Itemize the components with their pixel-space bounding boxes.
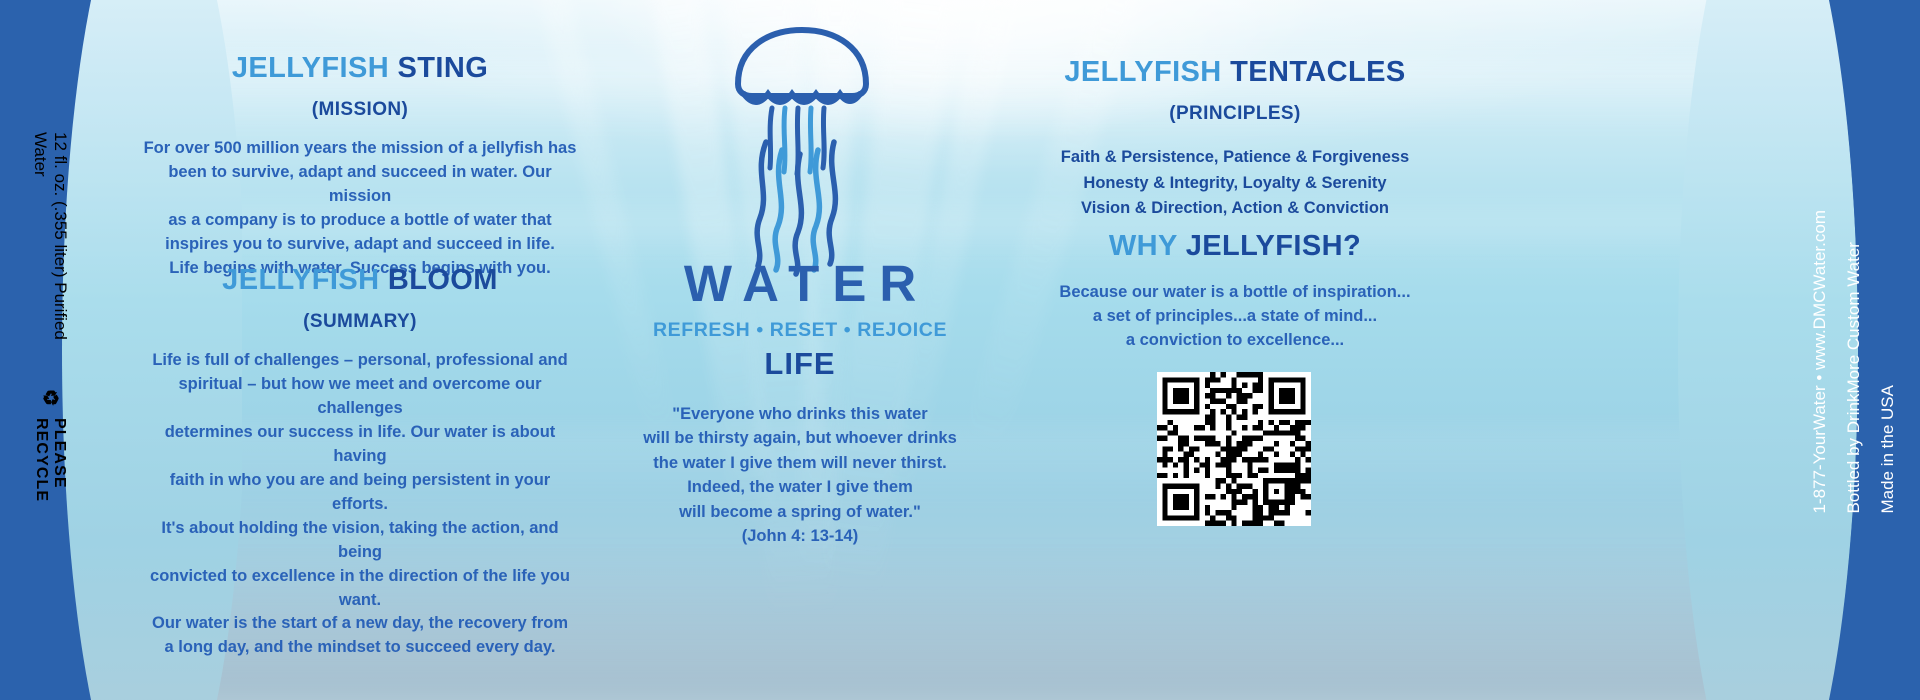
mission-section: JELLYFISH STING (MISSION) For over 500 m… [140, 52, 580, 281]
scripture-reference: (John 4: 13-14) [620, 524, 980, 548]
why-jellyfish-section: WHY JELLYFISH? Because our water is a bo… [1040, 230, 1430, 353]
recycle-label: PLEASE RECYCLE [32, 418, 68, 572]
principles-section: JELLYFISH TENTACLES (PRINCIPLES) Faith &… [1040, 56, 1430, 222]
recycle-info: 12 fl. oz. (.355 liter) Purified Water ♻… [30, 132, 70, 572]
scripture-verse: "Everyone who drinks this water will be … [620, 402, 980, 548]
summary-subtitle: (SUMMARY) [140, 311, 580, 333]
summary-section: JELLYFISH BLOOM (SUMMARY) Life is full o… [140, 264, 580, 660]
why-jellyfish-body: Because our water is a bottle of inspira… [1040, 281, 1430, 353]
summary-heading: JELLYFISH BLOOM [140, 264, 580, 297]
bottle-label: 12 fl. oz. (.355 liter) Purified Water ♻… [0, 0, 1920, 700]
principle-item: Vision & Direction, Action & Conviction [1040, 196, 1430, 222]
brand-name: WATER [620, 258, 980, 309]
principle-item: Honesty & Integrity, Loyalty & Serenity [1040, 171, 1430, 197]
principle-item: Faith & Persistence, Patience & Forgiven… [1040, 145, 1430, 171]
tentacles-heading: JELLYFISH TENTACLES [1040, 56, 1430, 89]
why-jellyfish-heading: WHY JELLYFISH? [1040, 230, 1430, 263]
bottler-text: Bottled by DrinkMore Custom Water [1844, 210, 1864, 514]
summary-body: Life is full of challenges – personal, p… [140, 349, 580, 660]
brand-tagline: REFRESH • RESET • REJOICE [620, 319, 980, 342]
contact-text: 1-877-YourWater • www.DMCWater.com [1810, 210, 1830, 514]
recycle-icon: ♻ [40, 386, 60, 410]
qr-code-image [1157, 372, 1311, 526]
manufacturer-info: Made in the USA Bottled by DrinkMore Cus… [1810, 210, 1898, 514]
mission-subtitle: (MISSION) [140, 99, 580, 121]
made-in-usa-text: Made in the USA [1878, 210, 1898, 514]
principles-list: Faith & Persistence, Patience & Forgiven… [1040, 145, 1430, 222]
tentacles-subtitle: (PRINCIPLES) [1040, 103, 1430, 125]
mission-heading: JELLYFISH STING [140, 52, 580, 85]
jellyfish-logo-icon [692, 22, 912, 282]
brand-block: WATER REFRESH • RESET • REJOICE LIFE "Ev… [620, 258, 980, 548]
life-word: LIFE [620, 346, 980, 382]
volume-text: 12 fl. oz. (.355 liter) Purified Water [30, 132, 70, 378]
mission-body: For over 500 million years the mission o… [140, 137, 580, 281]
qr-code[interactable] [1157, 372, 1311, 526]
